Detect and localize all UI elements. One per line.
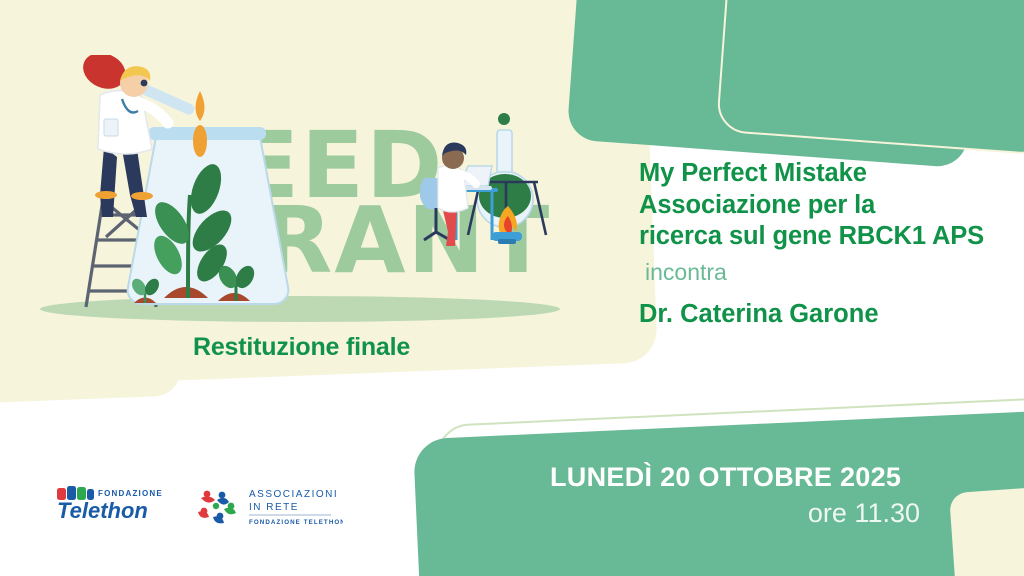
- headline-line-3: ricerca sul gene RBCK1 APS: [639, 221, 1019, 253]
- poster-canvas: SEED GRANT: [0, 0, 1024, 576]
- event-headline: My Perfect Mistake Associazione per la r…: [639, 158, 1019, 253]
- seated-scientist-icon: [420, 143, 476, 246]
- telethon-name-text: Telethon: [57, 498, 148, 523]
- cream-lower-strip: [0, 325, 181, 404]
- assoc-line-1: ASSOCIAZIONI: [249, 489, 338, 500]
- subtitle-restituzione-finale: Restituzione finale: [193, 333, 410, 362]
- speaker-name: Dr. Caterina Garone: [639, 300, 879, 329]
- fondazione-telethon-logo: FONDAZIONE Telethon: [55, 483, 167, 525]
- event-time: ore 11.30: [550, 498, 920, 529]
- pinwheel-people-icon: [198, 491, 236, 524]
- telethon-top-text: FONDAZIONE: [98, 489, 163, 498]
- meets-label: incontra: [645, 259, 727, 286]
- cream-corner-block: [949, 483, 1024, 576]
- headline-line-1: My Perfect Mistake: [639, 158, 1019, 190]
- illustration-scientist-laptop-burner: [420, 110, 600, 300]
- associazioni-in-rete-logo: ASSOCIAZIONI IN RETE FONDAZIONE TELETHON: [193, 483, 343, 527]
- green-rectangle-top-right: [716, 0, 1024, 156]
- assoc-line-2: IN RETE: [249, 502, 299, 513]
- headline-line-2: Associazione per la: [639, 190, 1019, 222]
- event-date: LUNEDÌ 20 OTTOBRE 2025: [550, 462, 920, 493]
- illustration-scientist-flask-plants: [60, 55, 320, 325]
- assoc-line-3: FONDAZIONE TELETHON: [249, 519, 343, 526]
